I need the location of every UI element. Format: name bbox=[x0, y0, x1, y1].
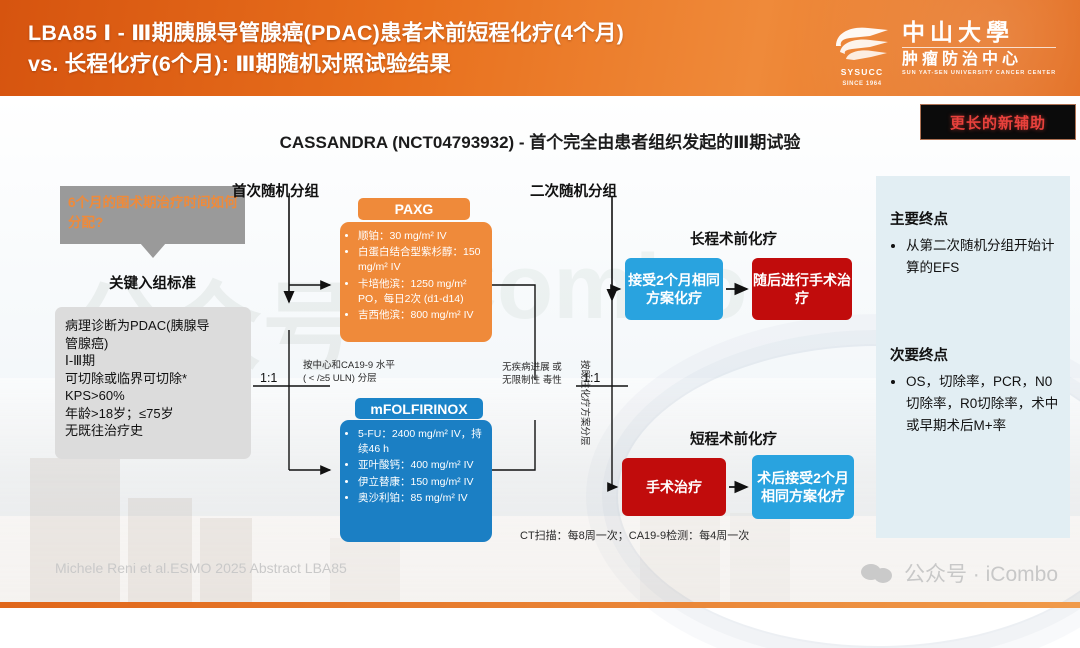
primary-endpoint-item: 从第二次随机分组开始计算的EFS bbox=[906, 235, 1062, 279]
logo-abbrev: SYSUCC bbox=[832, 67, 892, 77]
paxg-drug-item: 顺铂：30 mg/m² IV bbox=[358, 229, 484, 244]
secondary-endpoint-section: 次要终点 OS，切除率，PCR，N0切除率，R0切除率，术中或早期术后M+率 bbox=[890, 344, 1062, 437]
logo-chinese-name: 中山大學 bbox=[902, 20, 1056, 44]
institution-logo: SYSUCC SINCE 1964 中山大學 肿瘤防治中心 SUN YAT-SE… bbox=[830, 16, 1062, 80]
second-randomization-label: 二次随机分组 bbox=[530, 180, 617, 201]
paxg-arm-regimen: 顺铂：30 mg/m² IV 白蛋白结合型紫杉醇：150 mg/m² IV 卡培… bbox=[340, 222, 492, 342]
question-text: 6个月的围术期治疗时间如何分配? bbox=[68, 193, 238, 232]
title-line-2: vs. 长程化疗(6个月): Ⅲ期随机对照试验结果 bbox=[28, 49, 828, 80]
long-course-step-1: 接受2个月相同方案化疗 bbox=[625, 258, 723, 320]
criteria-line: KPS>60% bbox=[65, 387, 243, 405]
primary-endpoint-section: 主要终点 从第二次随机分组开始计算的EFS bbox=[890, 208, 1062, 279]
question-callout: 6个月的围术期治疗时间如何分配? bbox=[60, 186, 245, 244]
criteria-line: 管腺癌) bbox=[65, 335, 243, 353]
long-course-label: 长程术前化疗 bbox=[690, 228, 777, 249]
short-course-step-2: 术后接受2个月相同方案化疗 bbox=[752, 455, 854, 519]
paxg-drug-item: 卡培他滨：1250 mg/m² PO，每日2次 (d1-d14) bbox=[358, 277, 484, 307]
paxg-arm-title: PAXG bbox=[358, 198, 470, 220]
logo-english-name: SUN YAT-SEN UNIVERSITY CANCER CENTER bbox=[902, 70, 1056, 76]
logo-since: SINCE 1964 bbox=[832, 81, 892, 87]
title-line-1: LBA85 Ⅰ - Ⅲ期胰腺导管腺癌(PDAC)患者术前短程化疗(4个月) bbox=[28, 21, 624, 45]
key-criteria-label: 关键入组标准 bbox=[60, 272, 245, 293]
mfolfirinox-arm-title: mFOLFIRINOX bbox=[355, 398, 483, 419]
first-stratification-note: 按中心和CA19-9 水平( < /≥5 ULN) 分层 bbox=[303, 360, 395, 385]
page-title: LBA85 Ⅰ - Ⅲ期胰腺导管腺癌(PDAC)患者术前短程化疗(4个月) vs… bbox=[28, 18, 828, 79]
long-course-step-2: 随后进行手术治疗 bbox=[752, 258, 852, 320]
wechat-handle: 公众号 · iCombo bbox=[904, 558, 1058, 588]
wechat-icon bbox=[861, 561, 895, 585]
trial-subtitle: CASSANDRA (NCT04793932) - 首个完全由患者组织发起的Ⅲ期… bbox=[0, 128, 1080, 153]
secondary-endpoint-title: 次要终点 bbox=[890, 344, 1062, 365]
criteria-line: 无既往治疗史 bbox=[65, 422, 243, 440]
slide-header: LBA85 Ⅰ - Ⅲ期胰腺导管腺癌(PDAC)患者术前短程化疗(4个月) vs… bbox=[0, 0, 1080, 96]
criteria-line: 病理诊断为PDAC(胰腺导 bbox=[65, 317, 243, 335]
mfolfirinox-arm-regimen: 5-FU：2400 mg/m² IV，持续46 h 亚叶酸钙：400 mg/m²… bbox=[340, 420, 492, 542]
criteria-line: 年龄>18岁；≤75岁 bbox=[65, 405, 243, 423]
eligibility-criteria-list: 病理诊断为PDAC(胰腺导 管腺癌) Ⅰ-Ⅲ期 可切除或临界可切除* KPS>6… bbox=[65, 317, 243, 440]
callout-tail bbox=[140, 243, 166, 258]
criteria-line: 可切除或临界可切除* bbox=[65, 370, 243, 388]
slide-root: 公众号 iCombo LBA85 Ⅰ - Ⅲ期胰腺导管腺癌(PDAC)患者术前短… bbox=[0, 0, 1080, 608]
monitoring-note: CT扫描：每8周一次；CA19-9检测：每4周一次 bbox=[520, 529, 820, 544]
mfolfirinox-drug-item: 伊立替康：150 mg/m² IV bbox=[358, 475, 484, 490]
sysucc-emblem-icon: SYSUCC SINCE 1964 bbox=[830, 20, 892, 76]
logo-chinese-subname: 肿瘤防治中心 bbox=[902, 47, 1056, 70]
first-randomization-label: 首次随机分组 bbox=[232, 180, 319, 201]
secondary-endpoint-item: OS，切除率，PCR，N0切除率，R0切除率，术中或早期术后M+率 bbox=[906, 371, 1062, 437]
criteria-line: Ⅰ-Ⅲ期 bbox=[65, 352, 243, 370]
first-randomization-ratio: 1:1 bbox=[260, 371, 277, 385]
eligibility-criteria-box: 病理诊断为PDAC(胰腺导 管腺癌) Ⅰ-Ⅲ期 可切除或临界可切除* KPS>6… bbox=[55, 307, 251, 459]
short-course-step-1: 手术治疗 bbox=[622, 458, 726, 516]
second-randomization-condition: 无疾病进展 或无限制性 毒性 bbox=[498, 362, 566, 387]
mfolfirinox-drug-item: 5-FU：2400 mg/m² IV，持续46 h bbox=[358, 427, 484, 457]
primary-endpoint-title: 主要终点 bbox=[890, 208, 1062, 229]
citation: Michele Reni et al.ESMO 2025 Abstract LB… bbox=[55, 560, 347, 576]
endpoints-panel: 主要终点 从第二次随机分组开始计算的EFS 次要终点 OS，切除率，PCR，N0… bbox=[876, 176, 1070, 538]
logo-text: 中山大學 肿瘤防治中心 SUN YAT-SEN UNIVERSITY CANCE… bbox=[902, 20, 1056, 75]
paxg-drug-item: 白蛋白结合型紫杉醇：150 mg/m² IV bbox=[358, 245, 484, 275]
paxg-drug-item: 吉西他滨：800 mg/m² IV bbox=[358, 308, 484, 323]
second-stratification-note: 按既往化疗方案分层 bbox=[578, 360, 590, 480]
short-course-label: 短程术前化疗 bbox=[690, 428, 777, 449]
wechat-watermark: 公众号 · iCombo bbox=[861, 558, 1058, 588]
mfolfirinox-drug-item: 奥沙利铂：85 mg/m² IV bbox=[358, 491, 484, 506]
mfolfirinox-drug-item: 亚叶酸钙：400 mg/m² IV bbox=[358, 458, 484, 473]
footer-accent-bar bbox=[0, 602, 1080, 608]
